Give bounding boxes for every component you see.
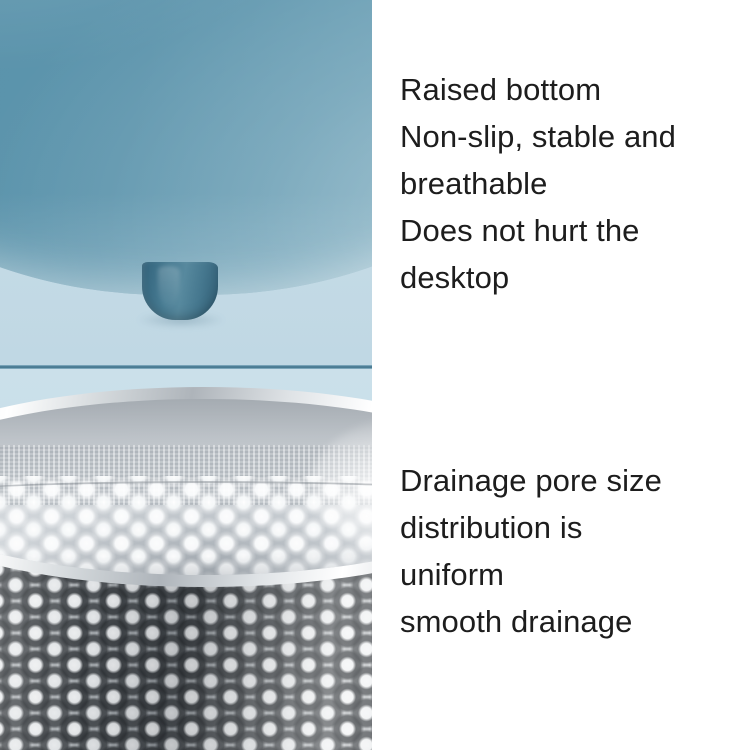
- feature-panel-drainage-pores: Drainage pore size distribution is unifo…: [0, 369, 750, 750]
- colander-inner-basket: [0, 399, 372, 575]
- caption-raised-bottom: Raised bottom Non-slip, stable and breat…: [400, 66, 742, 301]
- product-feature-image: Raised bottom Non-slip, stable and breat…: [0, 0, 750, 750]
- product-photo-colander: [0, 369, 372, 750]
- panel-divider-line: [0, 365, 372, 369]
- drainage-holes-inner: [0, 476, 372, 575]
- caption-area-bottom: Drainage pore size distribution is unifo…: [372, 369, 750, 750]
- caption-drainage-pores: Drainage pore size distribution is unifo…: [400, 457, 742, 645]
- caption-area-top: Raised bottom Non-slip, stable and breat…: [372, 0, 750, 366]
- bowl-body: [0, 0, 372, 295]
- product-photo-bowl-underside: [0, 0, 372, 366]
- feature-panel-raised-bottom: Raised bottom Non-slip, stable and breat…: [0, 0, 750, 366]
- raised-foot-nub: [142, 262, 218, 320]
